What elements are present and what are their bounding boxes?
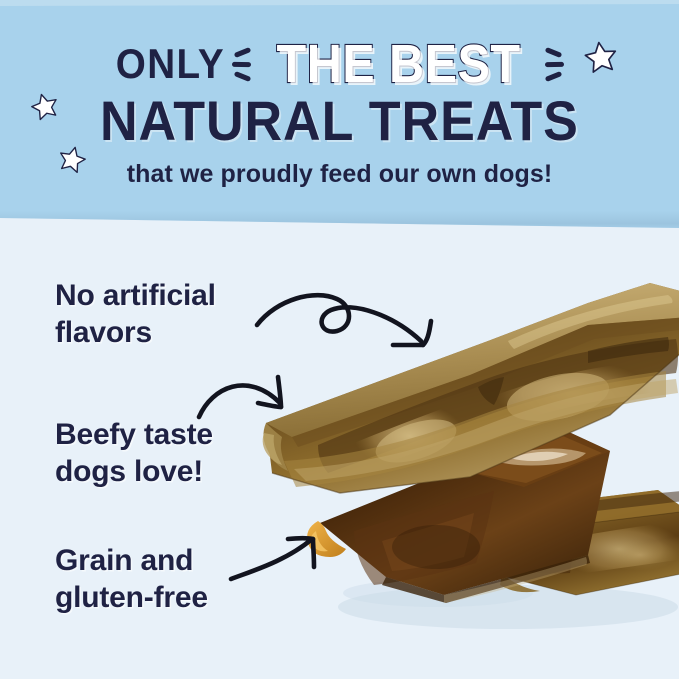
headline-line-1: ONLY THE BEST [0, 36, 679, 92]
headline-word-only: ONLY [115, 43, 224, 85]
headline-word-the-best: THE BEST [277, 37, 521, 91]
sparkle-burst-left-icon [229, 40, 263, 88]
curved-arrow-right-up-icon [228, 527, 333, 585]
feature-2-line-1: Grain and [55, 543, 208, 580]
feature-text-0: No artificial flavors [55, 278, 216, 351]
header-bottom-shadow [0, 211, 679, 229]
sparkle-burst-right-icon [534, 40, 568, 88]
header-subtitle: that we proudly feed our own dogs! [0, 160, 679, 189]
feature-text-2: Grain and gluten-free [55, 543, 208, 616]
star-decoration-right [583, 40, 619, 76]
feature-text-1: Beefy taste dogs love! [55, 417, 213, 490]
feature-1-line-1: Beefy taste [55, 417, 213, 454]
promo-graphic: ONLY THE BEST NATURAL TREATS that we pro… [0, 0, 679, 679]
star-decoration-left-upper [30, 92, 60, 122]
headline-line-2: NATURAL TREATS [0, 92, 679, 151]
curved-arrow-right-down-icon [196, 363, 306, 425]
feature-2-line-2: gluten-free [55, 580, 208, 617]
headline-word-natural-treats: NATURAL TREATS [100, 92, 579, 151]
curly-loop-arrow-right-icon [253, 283, 468, 358]
feature-0-line-2: flavors [55, 315, 216, 352]
header-top-highlight [0, 0, 679, 6]
feature-0-line-1: No artificial [55, 278, 216, 315]
feature-1-line-2: dogs love! [55, 454, 213, 491]
star-decoration-left-lower [57, 145, 87, 175]
